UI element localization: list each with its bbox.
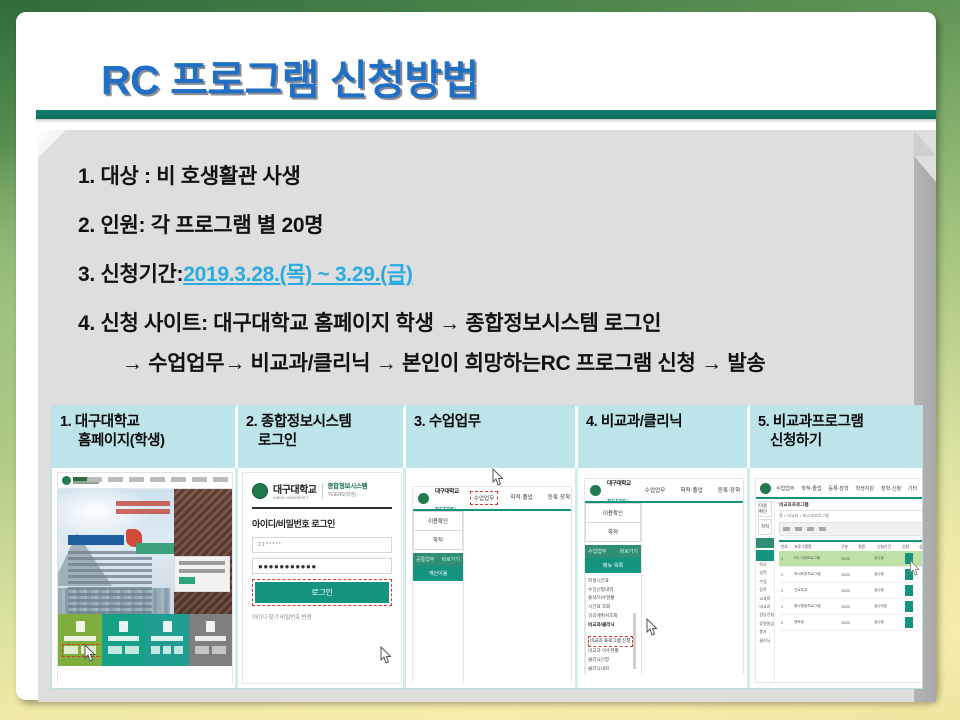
homepage-navbar [58,473,232,489]
row-status: 접수중 [874,588,902,593]
mouse-cursor-icon [82,644,98,669]
row-apply-button[interactable] [905,585,913,596]
login-button-highlight: 로그인 [252,579,392,606]
portal-menu-registration[interactable]: 등록·장학 [545,491,573,505]
body-line-4: 4. 신청 사이트: 대구대학교 홈페이지 학생 → 종합정보시스템 로그인 [78,307,918,337]
brand-name-kr: 대구대학교 [273,481,317,496]
hero-callout-card [174,556,230,592]
homepage-hero-banner [58,489,232,614]
nav-item[interactable] [87,477,102,482]
portal-main-area [463,511,571,683]
step-header-4-line1: 4. 비교과/클리닉 [586,414,682,430]
toolbar-icon[interactable] [819,527,826,531]
login-id-value: 21***** [258,542,282,548]
row-status: 접수중 [874,572,902,577]
row-status: 접수중 [874,556,902,561]
step-header-1-line1: 1. 대구대학교 [60,414,140,430]
step-header-2: 2. 종합정보시스템 로그인 [238,406,406,468]
page-title: RC 프로그램 신청방법 [101,46,479,106]
portal-screenshot: 대구대학교 TIGERS+ 수업업무 학적·졸업 등록·장학 [412,486,572,682]
portal-main-area [641,503,743,675]
table-row[interactable]: 2 독서토론프로그램 20/20 접수중 [779,567,922,583]
panel-content: 1. 대상 : 비 호생활관 사생 2. 인원: 각 프로그램 별 20명 3.… [38,130,936,702]
sidebar-mini-item[interactable]: ·장학 [756,586,774,594]
row-count: 20/20 [841,573,871,577]
list-breadcrumb: 비교과프로그램 [779,502,922,511]
sidebar-section-shortcut[interactable]: 바로가기 [442,556,460,563]
nav-item[interactable] [213,477,228,482]
sidebar-tab-academic[interactable]: 학적 [413,531,463,550]
slide-background: RC 프로그램 신청방법 1. 대상 : 비 호생활관 사생 2. 인원: 각 … [0,0,960,720]
system-name-text: 종합정보시스템 [328,483,368,490]
list-sub-path: 홈 > 비교과 > 비교과프로그램 [779,513,922,519]
sidebar-tab-usage[interactable]: 이용확인 [758,501,772,517]
list-topbar: 수업업무 학적·졸업 등록·장학 학생지원 장학·신청 기타 [756,479,922,499]
sidebar-mini-item[interactable]: ·증명발급 [756,620,774,628]
row-program-name: 진로특강 [794,588,838,593]
menu-item-program-apply[interactable]: 비교과 프로그램 신청 [588,636,633,647]
title-divider [36,110,936,119]
login-heading: 아이디/비밀번호 로그인 [252,517,392,530]
tile-label [195,636,227,641]
table-row[interactable]: 4 봉사활동프로그램 20/20 접수마감 [779,599,922,615]
list-main-area: 비교과프로그램 홈 > 비교과 > 비교과프로그램 [775,499,922,682]
portal-menu-bar: 수업업무 학적·졸업 등록·장학 [470,491,574,505]
row-apply-button[interactable] [905,601,913,612]
sidebar-mini-item[interactable]: ·비교과 [756,603,774,611]
sidebar-mini-item[interactable]: ·봉사 [756,628,774,636]
list-menu-3[interactable]: 등록·장학 [828,485,848,492]
hero-crowd-photo [174,489,232,614]
step-screenshot-2: 대구대학교 DAEGU UNIVERSITY 종합정보시스템 TIGERS(학생… [238,468,406,688]
body-line-1: 1. 대상 : 비 호생활관 사생 [78,160,918,190]
row-program-name: 독서토론프로그램 [794,572,838,577]
tile-icon [119,621,128,632]
hero-kicker-text [68,535,124,545]
row-program-name: 멘토링 [794,620,838,625]
tile-label [108,636,140,641]
portal-menu-registration[interactable]: 등록·장학 [715,484,743,496]
menu-item-attendance[interactable]: 출석/이수현황 [588,594,641,603]
portal-menu-class-affairs[interactable]: 수업업무 [642,484,669,496]
portal-topbar: 대구대학교 TIGERS+ 수업업무 학적·졸업 등록·장학 [585,479,743,503]
table-row[interactable]: 3 진로특강 20/20 접수중 [779,583,922,599]
list-toolbar[interactable] [779,522,922,536]
system-subtitle: TIGERS(학생) [328,492,368,499]
step-header-2-line1: 2. 종합정보시스템 [246,414,352,430]
tile-buttons[interactable] [151,646,183,654]
mouse-cursor-icon [644,618,660,643]
login-brand-row: 대구대학교 DAEGU UNIVERSITY 종합정보시스템 TIGERS(학생… [252,481,392,500]
sidebar-mini-item[interactable]: ·학사 [756,561,774,569]
step-header-2-line2: 로그인 [246,432,395,451]
nav-item[interactable] [108,477,123,482]
portal-menu-screenshot: 대구대학교 TIGERS+ 수업업무 학적·졸업 등록·장학 [584,478,744,674]
nav-item[interactable] [171,477,186,482]
table-row[interactable]: 5 멘토링 20/20 접수중 [779,615,922,631]
quicklink-tile-learning[interactable] [102,614,146,666]
list-body: 이용확인 학적 ·학사 ·성적 ·수업 ·장학 ·교과목 ·비교과 [756,499,922,682]
hero-badge [136,543,174,554]
portal-menu-academic[interactable]: 학적·졸업 [507,491,535,505]
sidebar-tab-academic[interactable]: 학적 [585,523,641,542]
table-row[interactable]: 1 RC 기획프로그램 20/20 접수중 [779,551,922,567]
homepage-nav-items [87,477,228,482]
login-divider [252,507,392,509]
row-program-name: 봉사활동프로그램 [794,604,838,609]
tile-icon [163,621,172,632]
step-header-5-line2: 신청하기 [758,432,914,451]
body-line-2: 2. 인원: 각 프로그램 별 20명 [78,209,918,239]
login-button[interactable]: 로그인 [255,582,389,603]
sidebar-scrollbar[interactable] [633,613,636,669]
steps-table-body-row: 대구대학교 DAEGU UNIVERSITY 종합정보시스템 TIGERS(학생… [52,468,922,688]
steps-table-header-row: 1. 대구대학교 홈페이지(학생) 2. 종합정보시스템 로그인 3. 수업업무… [52,406,922,468]
toolbar-icon[interactable] [795,527,802,531]
nav-item[interactable] [150,477,165,482]
sidebar-tab-academic[interactable]: 학적 [758,519,772,535]
university-seal-icon [252,483,268,499]
list-menu-bar: 수업업무 학적·졸업 등록·장학 학생지원 장학·신청 기타 [776,485,917,492]
list-menu-1[interactable]: 수업업무 [776,485,794,492]
steps-table: 1. 대구대학교 홈페이지(학생) 2. 종합정보시스템 로그인 3. 수업업무… [52,406,922,688]
col-no: 번호 [781,545,791,550]
portal-menu-academic[interactable]: 학적·졸업 [677,484,705,496]
tile-buttons[interactable] [195,646,227,654]
col-period: 신청기간 [877,545,899,550]
col-type: 구분 [841,545,855,550]
step-header-4: 4. 비교과/클리닉 [578,406,750,468]
hero-heading [116,501,170,517]
portal-menu-class-affairs[interactable]: 수업업무 [470,491,499,505]
sidebar-mini-item[interactable]: ·상담신청 [756,611,774,619]
sidebar-mini-item[interactable]: ·클리닉 [756,637,774,645]
system-name: 종합정보시스템 TIGERS(학생) [328,483,368,499]
list-sidebar: 이용확인 학적 ·학사 ·성적 ·수업 ·장학 ·교과목 ·비교과 [756,499,775,682]
portal-topbar: 대구대학교 TIGERS+ 수업업무 학적·졸업 등록·장학 [413,487,571,511]
portal-body: 이용확인 학적 수업업무 바로가기 메뉴 목록 학생시간표 [585,503,743,675]
row-status: 접수중 [874,620,902,625]
program-list-screenshot: 수업업무 학적·졸업 등록·장학 학생지원 장학·신청 기타 [755,478,922,683]
nav-item[interactable] [129,477,144,482]
brand-name-en: DAEGU UNIVERSITY [273,496,317,500]
portal-sidebar: 이용확인 학적 공통업무 바로가기 개인이용 [413,511,463,683]
list-menu-5[interactable]: 장학·신청 [881,485,901,492]
homepage-footer-area [58,666,232,686]
sidebar-section-label: 공통업무 [416,556,434,563]
toolbar-icon[interactable] [807,527,814,531]
row-count: 20/20 [841,557,871,561]
list-menu-2[interactable]: 학적·졸업 [801,485,821,492]
portal-sidebar: 이용확인 학적 수업업무 바로가기 메뉴 목록 학생시간표 [585,503,641,675]
sidebar-section-class: 수업업무 바로가기 [585,545,641,558]
hero-paragraph [68,551,152,614]
list-table-header: 번호 프로그램명 구분 정원 신청기간 신청 상태 [779,544,922,551]
step-screenshot-4: 대구대학교 TIGERS+ 수업업무 학적·졸업 등록·장학 [578,468,750,688]
quicklink-tile-internship[interactable] [145,614,189,666]
login-password-field[interactable]: ●●●●●●●●●●● [252,558,392,574]
login-helper-links[interactable]: 아이디 찾기 비밀번호 변경 [252,612,392,621]
col-status: 상태 [919,545,922,550]
university-seal-icon [62,476,71,485]
login-brand-text: 대구대학교 DAEGU UNIVERSITY [273,481,317,500]
application-period-date: 2019.3.28.(목) ~ 3.29.(금) [183,263,412,286]
step-header-3-line1: 3. 수업업무 [414,414,481,430]
sidebar-section-shortcut[interactable]: 바로가기 [620,548,638,555]
sidebar-section-personal: 개인이용 [413,566,463,581]
portal-brand-name: 대구대학교 [607,481,631,487]
portal-brand-name: 대구대학교 [435,489,459,495]
university-seal-icon [590,485,601,496]
row-status: 접수마감 [874,604,902,609]
step-screenshot-5: 수업업무 학적·졸업 등록·장학 학생지원 장학·신청 기타 [750,468,922,688]
tile-icon [206,621,215,632]
toolbar-icon[interactable] [783,527,790,531]
col-name: 프로그램명 [794,545,838,550]
sidebar-section-common: 공통업무 바로가기 [413,553,463,566]
tile-label [64,636,96,641]
brand-divider [322,483,323,499]
step-header-5: 5. 비교과프로그램 신청하기 [750,406,922,468]
title-divider-shadow [36,119,936,123]
login-password-value: ●●●●●●●●●●● [258,562,317,571]
body-line-3: 3. 신청기간:2019.3.28.(목) ~ 3.29.(금) [78,258,918,288]
list-menu-4[interactable]: 학생지원 [856,485,874,492]
row-count: 20/20 [841,605,871,609]
sidebar-section-bar-active [756,550,774,561]
list-table-rule [779,540,922,542]
sidebar-mini-item[interactable]: ·수업 [756,578,774,586]
tile-label [151,636,183,641]
sidebar-section-bar [756,538,774,548]
step-screenshot-3: 대구대학교 TIGERS+ 수업업무 학적·졸업 등록·장학 [406,468,578,688]
menu-item-timetable[interactable]: 학생시간표 [588,577,641,586]
sidebar-tab-usage[interactable]: 이용확인 [585,503,641,523]
mouse-cursor-icon [908,560,922,583]
body-line-3-label: 3. 신청기간: [78,263,183,286]
title-zone: RC 프로그램 신청방법 [16,12,936,108]
slide-card: RC 프로그램 신청방법 1. 대상 : 비 호생활관 사생 2. 인원: 각 … [16,12,936,700]
portal-body: 이용확인 학적 공통업무 바로가기 개인이용 [413,511,571,683]
step-screenshot-1 [52,468,238,688]
sidebar-mini-item[interactable]: ·교과목 [756,595,774,603]
step-header-3: 3. 수업업무 [406,406,578,468]
row-count: 20/20 [841,589,871,593]
mouse-cursor-icon [378,646,394,671]
sidebar-mini-item[interactable]: ·성적 [756,569,774,577]
step-header-1: 1. 대구대학교 홈페이지(학생) [52,406,238,468]
col-apply: 신청 [902,545,916,550]
sidebar-section-label: 수업업무 [588,548,606,555]
tile-buttons[interactable] [108,646,140,654]
nav-item[interactable] [192,477,207,482]
col-capacity: 정원 [858,545,874,550]
login-id-field[interactable]: 21***** [252,537,392,553]
list-menu-6[interactable]: 기타 [908,485,917,492]
tile-icon [76,621,85,632]
row-program-name: RC 기획프로그램 [794,556,838,561]
menu-item-timetable-search[interactable]: 시간표 조회 [588,603,641,612]
step-header-1-line2: 홈페이지(학생) [60,432,227,451]
step-header-5-line1: 5. 비교과프로그램 [758,414,864,430]
row-apply-button[interactable] [905,617,913,628]
row-count: 20/20 [841,621,871,625]
portal-menu-bar: 수업업무 학적·졸업 등록·장학 [642,484,744,496]
body-text-list: 1. 대상 : 비 호생활관 사생 2. 인원: 각 프로그램 별 20명 3.… [78,160,918,377]
sidebar-tab-usage[interactable]: 이용확인 [413,511,463,531]
university-seal-icon [760,483,771,494]
menu-item-enrollment[interactable]: 수강신청내역 [588,586,641,595]
sidebar-section-menulist: 메뉴 목록 [585,558,641,573]
university-seal-icon [418,493,429,504]
body-line-5: → 수업업무→ 비교과/클리닉 → 본인이 희망하는RC 프로그램 신청 → 발… [78,347,918,377]
quicklink-tile-etc[interactable] [189,614,233,666]
